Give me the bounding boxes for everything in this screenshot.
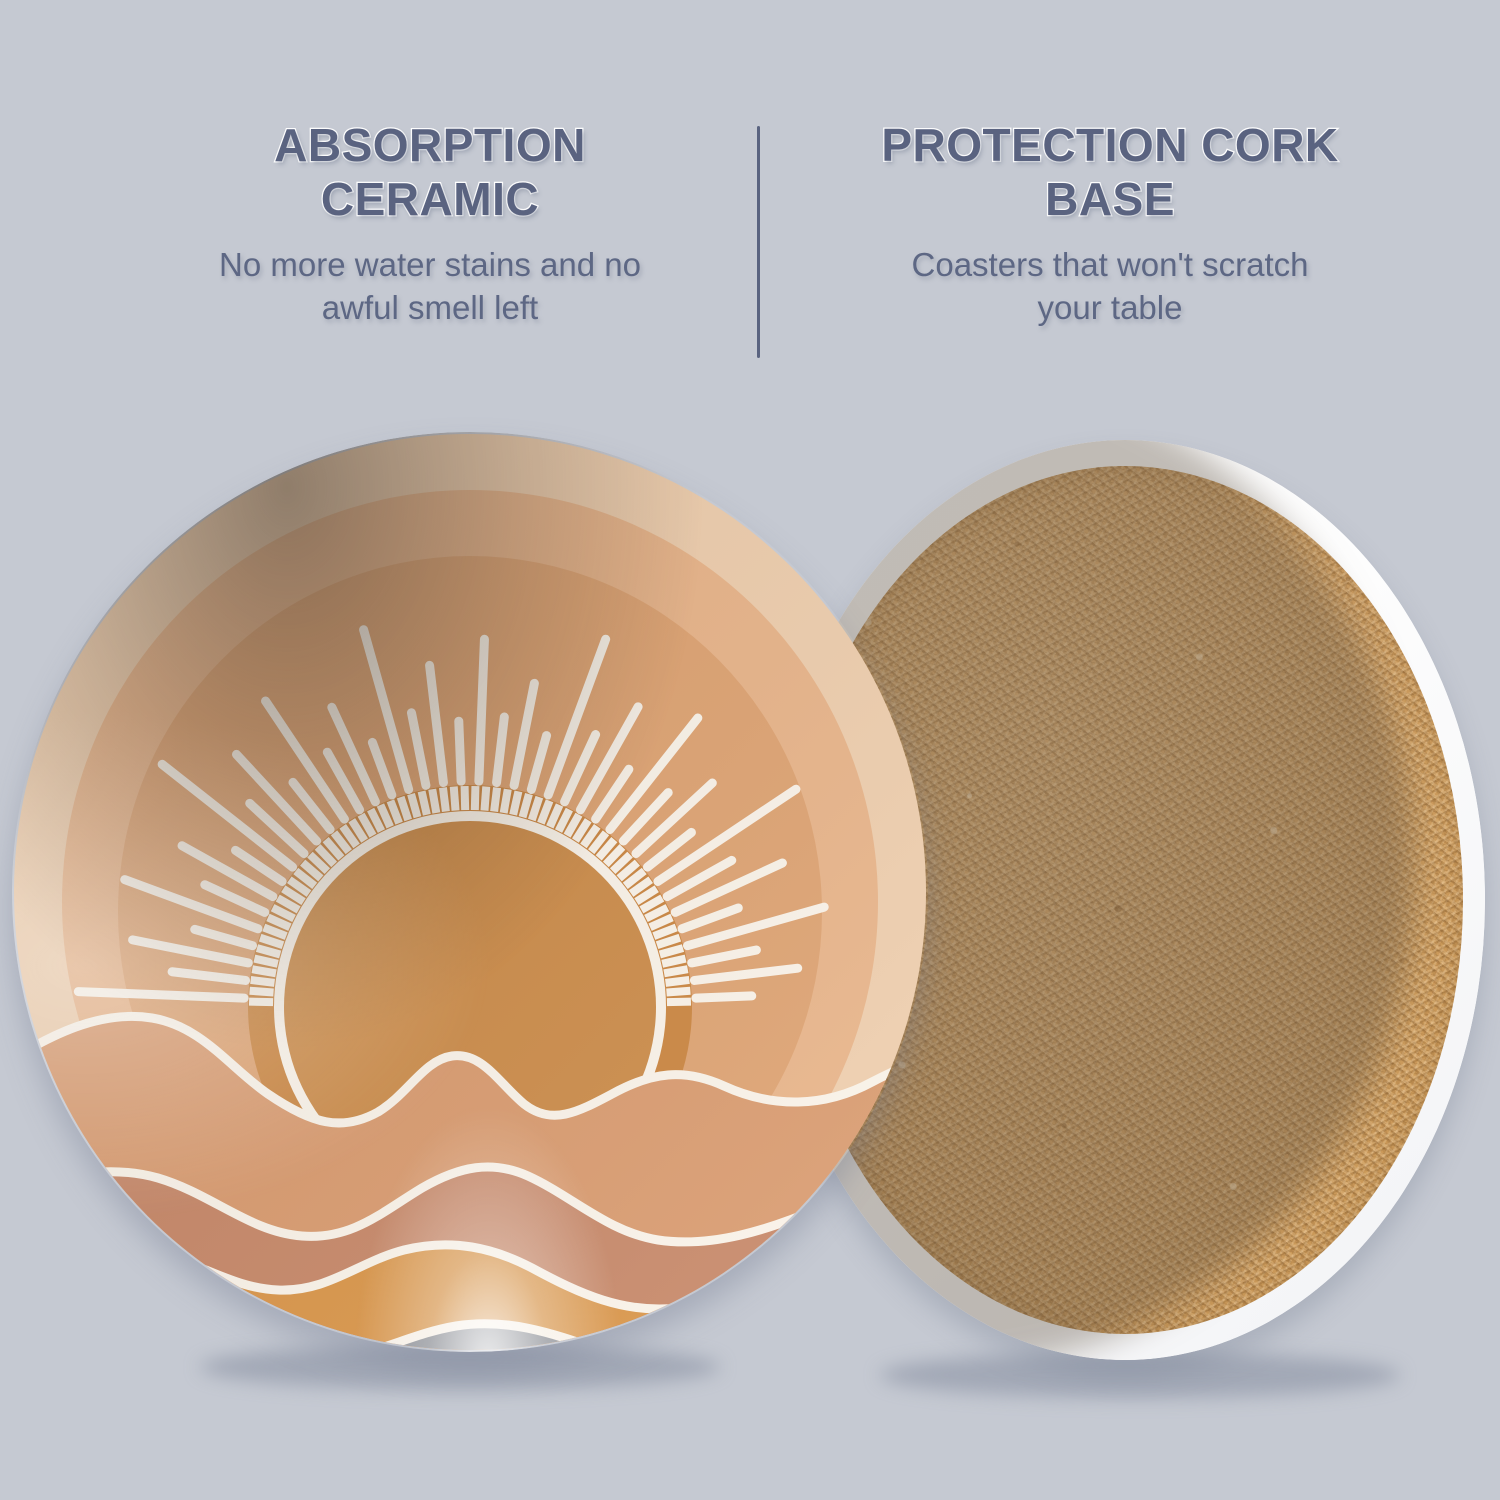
feature-subtitle-line2: your table [1038, 289, 1183, 326]
boho-sunrise-artwork [12, 432, 928, 1352]
feature-title-line2: CERAMIC [321, 173, 539, 225]
feature-block-absorption-ceramic: ABSORPTION CERAMIC No more water stains … [110, 118, 750, 330]
feature-subtitle-line1: No more water stains and no [219, 246, 641, 283]
feature-title-line2: BASE [1045, 173, 1175, 225]
feature-subtitle-line2: awful smell left [322, 289, 538, 326]
product-infographic: ABSORPTION CERAMIC No more water stains … [0, 0, 1500, 1500]
feature-subtitle-absorption-ceramic: No more water stains and no awful smell … [110, 243, 750, 330]
feature-title-protection-cork-base: PROTECTION CORK BASE [790, 118, 1430, 227]
feature-title-line1: PROTECTION CORK [881, 119, 1338, 171]
feature-title-line1: ABSORPTION [274, 119, 586, 171]
vertical-divider [757, 126, 760, 358]
feature-block-protection-cork-base: PROTECTION CORK BASE Coasters that won't… [790, 118, 1430, 330]
ceramic-coaster-front: Ceramic coaster front with boho sunrise … [12, 432, 928, 1352]
feature-title-absorption-ceramic: ABSORPTION CERAMIC [110, 118, 750, 227]
feature-subtitle-line1: Coasters that won't scratch [912, 246, 1309, 283]
artwork-paint-texture [12, 432, 928, 1352]
feature-subtitle-protection-cork-base: Coasters that won't scratch your table [790, 243, 1430, 330]
